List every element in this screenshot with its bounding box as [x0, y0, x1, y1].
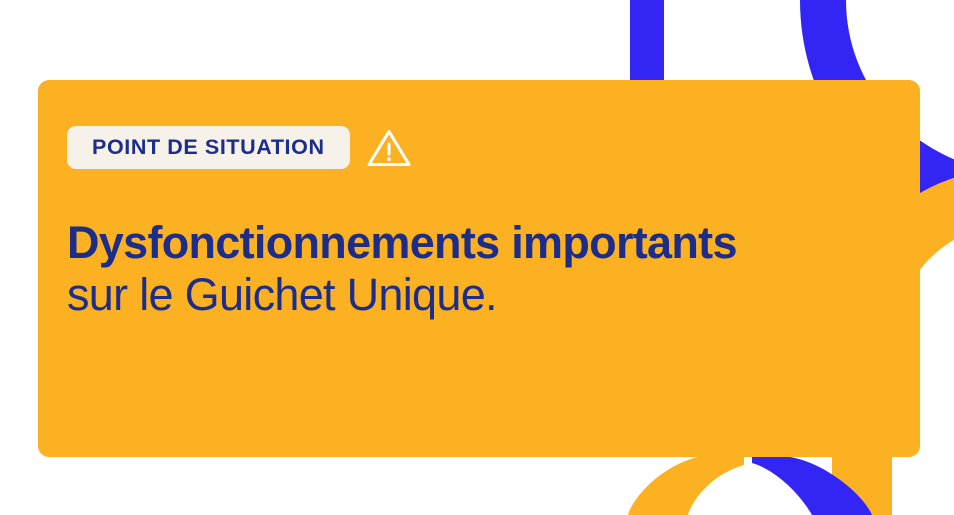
status-badge-label: POINT DE SITUATION [92, 137, 325, 159]
headline-line-strong: Dysfonctionnements importants [67, 217, 920, 269]
badge-row: POINT DE SITUATION [67, 126, 920, 169]
announcement-card: POINT DE SITUATION Dysfonctionnements im… [38, 80, 920, 457]
blue-vertical-bar [630, 0, 664, 82]
headline-line-light: sur le Guichet Unique. [67, 269, 920, 321]
status-badge: POINT DE SITUATION [67, 126, 350, 169]
poster-canvas: POINT DE SITUATION Dysfonctionnements im… [0, 0, 954, 515]
headline: Dysfonctionnements importants sur le Gui… [67, 217, 920, 321]
warning-triangle-icon [366, 128, 412, 168]
